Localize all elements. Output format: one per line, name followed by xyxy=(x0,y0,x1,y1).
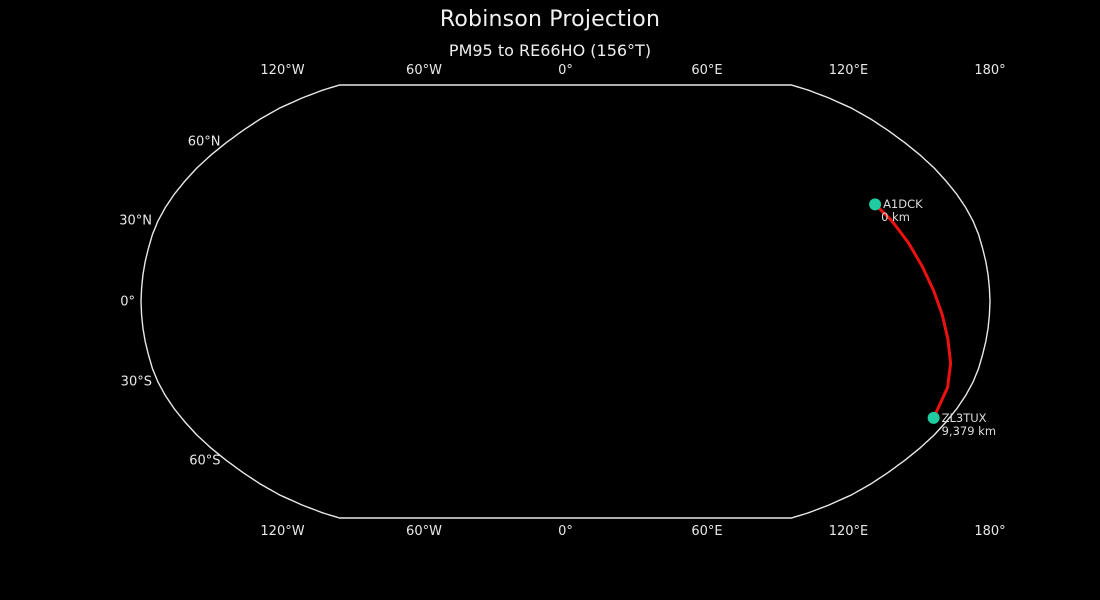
latitude-tick-label: 30°N xyxy=(96,213,152,228)
longitude-tick-label: 60°W xyxy=(406,63,442,78)
marker-callsign-label: ZL3TUX9,379 km xyxy=(942,412,996,438)
marker-callsign: ZL3TUX xyxy=(942,412,996,425)
robinson-map-canvas xyxy=(0,0,1100,600)
endpoint-marker[interactable] xyxy=(869,198,881,210)
map-boundary xyxy=(141,85,990,518)
latitude-tick-label: 60°N xyxy=(164,135,220,150)
longitude-tick-label: 60°W xyxy=(406,524,442,539)
marker-callsign-label: A1DCK0 km xyxy=(883,198,923,224)
longitude-tick-label: 60°E xyxy=(691,524,722,539)
endpoint-marker[interactable] xyxy=(928,412,940,424)
longitude-tick-label: 120°W xyxy=(260,524,304,539)
longitude-tick-label: 0° xyxy=(558,63,573,78)
latitude-tick-label: 0° xyxy=(79,294,135,309)
longitude-tick-label: 120°E xyxy=(829,524,869,539)
longitude-tick-label: 120°W xyxy=(260,63,304,78)
marker-distance: 9,379 km xyxy=(942,425,996,438)
longitude-tick-label: 60°E xyxy=(691,63,722,78)
map-figure: Robinson Projection PM95 to RE66HO (156°… xyxy=(0,0,1100,600)
latitude-tick-label: 30°S xyxy=(96,375,152,390)
longitude-tick-label: 180° xyxy=(974,63,1005,78)
latitude-tick-label: 60°S xyxy=(164,453,220,468)
marker-distance: 0 km xyxy=(881,211,923,224)
longitude-tick-label: 120°E xyxy=(829,63,869,78)
longitude-tick-label: 0° xyxy=(558,524,573,539)
longitude-tick-label: 180° xyxy=(974,524,1005,539)
